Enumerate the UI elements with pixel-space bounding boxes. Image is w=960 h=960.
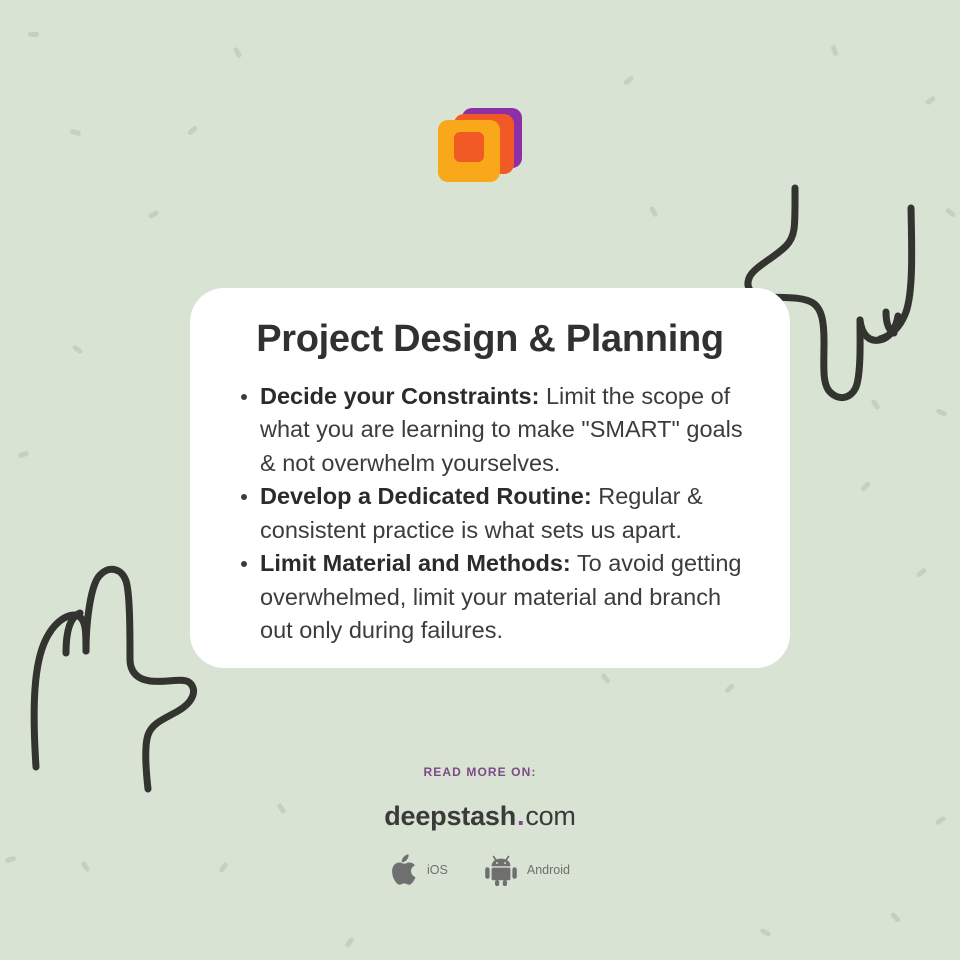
list-item: Develop a Dedicated Routine: Regular & c… xyxy=(260,480,752,547)
confetti-speck xyxy=(344,937,355,949)
confetti-speck xyxy=(890,912,901,924)
list-item: Decide your Constraints: Limit the scope… xyxy=(260,380,752,481)
card-body: Decide your Constraints: Limit the scope… xyxy=(224,380,756,648)
confetti-speck xyxy=(28,32,39,37)
brand-tld: com xyxy=(525,801,575,831)
list-item-lead: Decide your Constraints: xyxy=(260,383,539,409)
confetti-speck xyxy=(870,399,880,411)
confetti-speck xyxy=(233,46,243,58)
confetti-speck xyxy=(72,344,84,355)
confetti-speck xyxy=(600,673,611,685)
brand-dot: . xyxy=(516,801,525,831)
bullet-list: Decide your Constraints: Limit the scope… xyxy=(224,380,756,648)
android-icon xyxy=(484,854,518,886)
confetti-speck xyxy=(935,408,947,417)
list-item-lead: Develop a Dedicated Routine: xyxy=(260,483,592,509)
stacked-squares-icon xyxy=(434,104,526,196)
confetti-speck xyxy=(17,450,29,458)
confetti-speck xyxy=(649,205,659,217)
store-badges: iOS Android xyxy=(0,854,960,886)
confetti-speck xyxy=(860,481,871,493)
confetti-speck xyxy=(623,75,635,86)
confetti-speck xyxy=(945,207,957,218)
confetti-speck xyxy=(830,44,838,56)
page-title: Project Design & Planning xyxy=(224,316,756,370)
footer: READ MORE ON: deepstash.com iOS xyxy=(0,765,960,886)
confetti-speck xyxy=(147,210,159,220)
idea-card: Project Design & Planning Decide your Co… xyxy=(190,288,790,668)
deepstash-logo xyxy=(0,100,960,200)
list-item: Limit Material and Methods: To avoid get… xyxy=(260,547,752,648)
android-store-badge[interactable]: Android xyxy=(484,854,570,886)
brand-wordmark[interactable]: deepstash.com xyxy=(0,801,960,832)
confetti-speck xyxy=(759,928,771,938)
brand-name: deepstash xyxy=(384,801,516,831)
list-item-lead: Limit Material and Methods: xyxy=(260,550,571,576)
ios-store-badge[interactable]: iOS xyxy=(390,854,448,886)
apple-icon xyxy=(390,854,418,886)
ios-label: iOS xyxy=(427,863,448,877)
confetti-speck xyxy=(724,683,735,694)
read-more-label: READ MORE ON: xyxy=(0,765,960,779)
confetti-speck xyxy=(916,567,928,578)
android-label: Android xyxy=(527,863,570,877)
